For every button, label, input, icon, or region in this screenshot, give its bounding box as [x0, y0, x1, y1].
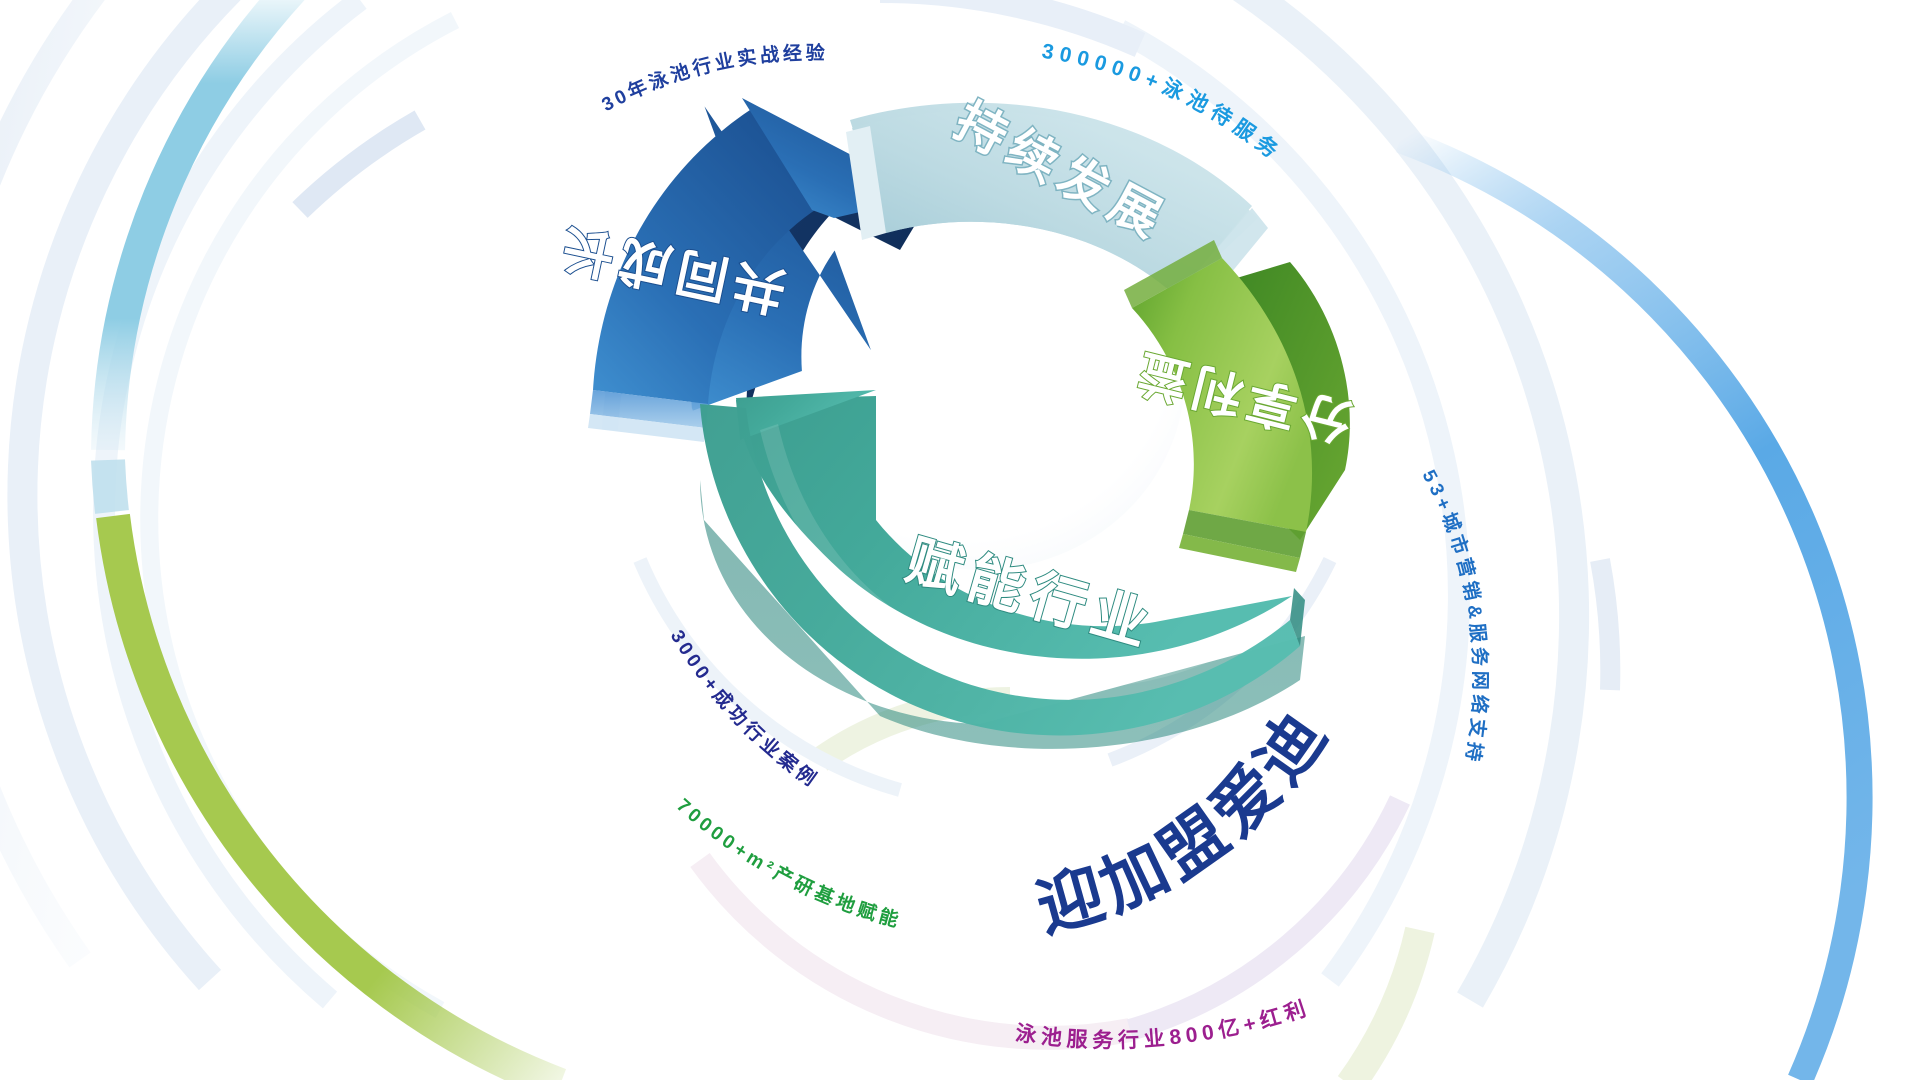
- stat-experience-text: 30年泳池行业实战经验: [599, 41, 829, 116]
- arc-chip-1: [880, 0, 1140, 45]
- arc-outer-left-blue-tail: [108, 460, 112, 512]
- arc-chip-3: [1600, 560, 1610, 690]
- infographic-svg: 共同成长 持续发展 分享利益 赋能行业 30年泳池行业实战经验 300000+泳…: [0, 0, 1920, 1080]
- arc-chip-2: [300, 120, 420, 210]
- stat-experience: 30年泳池行业实战经验: [599, 41, 829, 116]
- infographic-canvas: 共同成长 持续发展 分享利益 赋能行业 30年泳池行业实战经验 300000+泳…: [0, 0, 1920, 1080]
